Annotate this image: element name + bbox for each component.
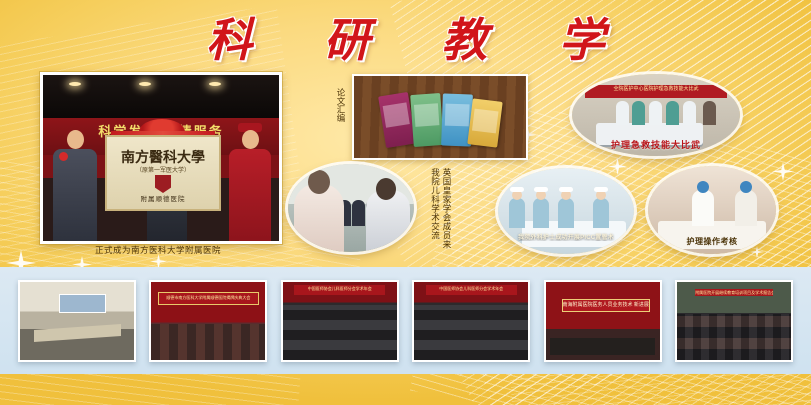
thumbnail-large-auditorium[interactable]: 附属医院开展继续教育培训项目及学术报告会: [675, 280, 793, 362]
event-banner: 附属医院开展继续教育培训项目及学术报告会: [695, 289, 773, 297]
audience-seats: [283, 305, 397, 360]
thumbnail-academic-forum[interactable]: 南海附属医院医务人员业务技术 新进展研讨会: [544, 280, 662, 362]
thumbnail-student-audience[interactable]: 中国医师协会儿科医师分会学术年会: [412, 280, 530, 362]
person-official: [53, 130, 97, 241]
event-banner-text: 中国医师协会儿科医师分会学术年会: [294, 285, 385, 293]
event-banner: 全院医护中心医院护理急救技能大比武: [585, 85, 726, 97]
thumbnail-conference-hall[interactable]: 顺德市南方医科大学附属顺德医院揭牌庆典大会: [149, 280, 267, 362]
thumbnail-meeting-room[interactable]: [18, 280, 136, 362]
photo-picc-catheter-procedure[interactable]: [498, 168, 634, 254]
event-banner-text: 中国医师协会儿科医师分会学术年会: [426, 285, 517, 293]
event-banner: 中国医师协会儿科医师分会学术年会: [294, 285, 385, 294]
drill-photo-caption: 护理急救技能大比武: [572, 138, 740, 151]
projection-screen: [59, 294, 107, 313]
plaque-hospital: 附属顺德医院: [107, 193, 219, 203]
person-hostess: [229, 123, 271, 241]
books-photo-caption: 论文汇编: [330, 88, 346, 122]
thumbnail-row: 顺德市南方医科大学附属顺德医院揭牌庆典大会 中国医师协会儿科医师分会学术年会 中…: [0, 267, 811, 374]
event-banner: 中国医师协会儿科医师分会学术年会: [426, 285, 517, 294]
event-banner-text: 全院医护中心医院护理急救技能大比武: [585, 85, 726, 95]
university-seal-icon: [155, 175, 171, 193]
person-doctor: [366, 190, 410, 252]
plaque-title: 南方醫科大學: [107, 147, 219, 167]
event-banner-text: 南海附属医院医务人员业务技术 新进展研讨会: [563, 300, 650, 310]
university-plaque: 南方醫科大學 （原第一军医大学） 附属顺德医院: [105, 135, 221, 211]
book-item: [410, 93, 444, 147]
audience-seats: [414, 305, 528, 360]
photo-content: 科学发展 教情服务 南方醫科大學 （原第一军医大学） 附属顺德医院: [43, 75, 279, 241]
visit-photo-caption: 英国皇家学会成员来我院儿科学术交流: [408, 168, 452, 252]
page-title: 科 研 教 学: [0, 8, 811, 66]
audience-seats: [677, 314, 791, 359]
event-banner: 南海附属医院医务人员业务技术 新进展研讨会: [562, 299, 651, 312]
person-visitor: [294, 184, 344, 252]
poster-board: 科 研 教 学 科学发展 教情服务 南方醫科大學 （原第一军医大学）: [0, 0, 811, 405]
books-photo-thesis-collection[interactable]: [352, 74, 528, 160]
main-photo-caption: 正式成为南方医科大学附属医院: [40, 244, 276, 256]
exam-photo-caption: 护理操作考核: [648, 236, 776, 247]
event-banner-text: 顺德市南方医科大学附属顺德医院揭牌庆典大会: [159, 293, 257, 302]
book-item: [467, 98, 502, 147]
thumbnail-classroom-lecture[interactable]: 中国医师协会儿科医师分会学术年会: [281, 280, 399, 362]
audience-seats: [151, 324, 265, 360]
panel-desk: [550, 338, 655, 355]
plaque-subtitle: （原第一军医大学）: [107, 165, 219, 174]
picc-photo-caption: 我院外科护士成功开展PICC置管术: [498, 232, 634, 241]
main-photo-plaque-ceremony[interactable]: 科学发展 教情服务 南方醫科大學 （原第一军医大学） 附属顺德医院: [40, 72, 282, 244]
event-banner: 顺德市南方医科大学附属顺德医院揭牌庆典大会: [158, 292, 258, 304]
event-banner-text: 附属医院开展继续教育培训项目及学术报告会: [695, 289, 773, 298]
photo-british-royal-visit[interactable]: [288, 164, 414, 252]
